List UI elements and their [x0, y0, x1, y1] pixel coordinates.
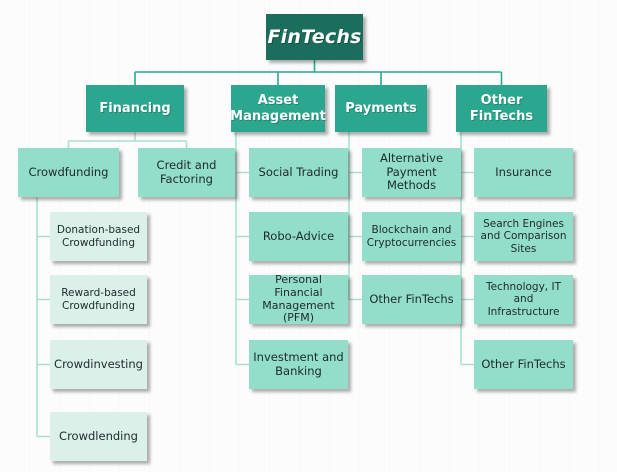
node-technology-it-and-infrastructure[interactable]: Technology, IT and Infrastructure [474, 275, 573, 324]
connector-payments-trunk [349, 132, 362, 300]
node-root-fintechs[interactable]: FinTechs [266, 14, 363, 60]
node-blockchain-and-cryptocurrencies[interactable]: Blockchain and Cryptocurrencies [362, 212, 461, 261]
node-crowdfunding[interactable]: Crowdfunding [18, 148, 119, 197]
node-robo-advice[interactable]: Robo-Advice [249, 212, 348, 261]
node-crowdinvesting[interactable]: Crowdinvesting [50, 340, 147, 389]
connector-other-fintechs-trunk [461, 132, 474, 365]
node-other-fintechs-leaf[interactable]: Other FinTechs [474, 340, 573, 389]
node-investment-and-banking[interactable]: Investment and Banking [249, 340, 348, 389]
connector-financing-bus [69, 132, 187, 148]
node-other-fintechs[interactable]: Other FinTechs [456, 85, 547, 132]
fintech-taxonomy-diagram: FinTechs Financing Asset Management Paym… [0, 0, 617, 472]
node-crowdlending[interactable]: Crowdlending [50, 412, 147, 461]
connector-crowdfunding-trunk [37, 197, 50, 437]
node-donation-based-crowdfunding[interactable]: Donation-based Crowdfunding [50, 212, 147, 261]
connector-asset-management-trunk [236, 132, 249, 365]
node-financing[interactable]: Financing [86, 85, 184, 132]
node-personal-financial-management[interactable]: Personal Financial Management (PFM) [249, 275, 348, 324]
node-asset-management[interactable]: Asset Management [231, 85, 325, 132]
node-search-engines-and-comparison-sites[interactable]: Search Engines and Comparison Sites [474, 212, 573, 261]
node-insurance[interactable]: Insurance [474, 148, 573, 197]
node-payments[interactable]: Payments [335, 85, 427, 132]
node-credit-and-factoring[interactable]: Credit and Factoring [138, 148, 235, 197]
node-alternative-payment-methods[interactable]: Alternative Payment Methods [362, 148, 461, 197]
node-reward-based-crowdfunding[interactable]: Reward-based Crowdfunding [50, 275, 147, 324]
node-payments-other-fintechs[interactable]: Other FinTechs [362, 275, 461, 324]
node-social-trading[interactable]: Social Trading [249, 148, 348, 197]
connector-root-bus [135, 60, 502, 85]
